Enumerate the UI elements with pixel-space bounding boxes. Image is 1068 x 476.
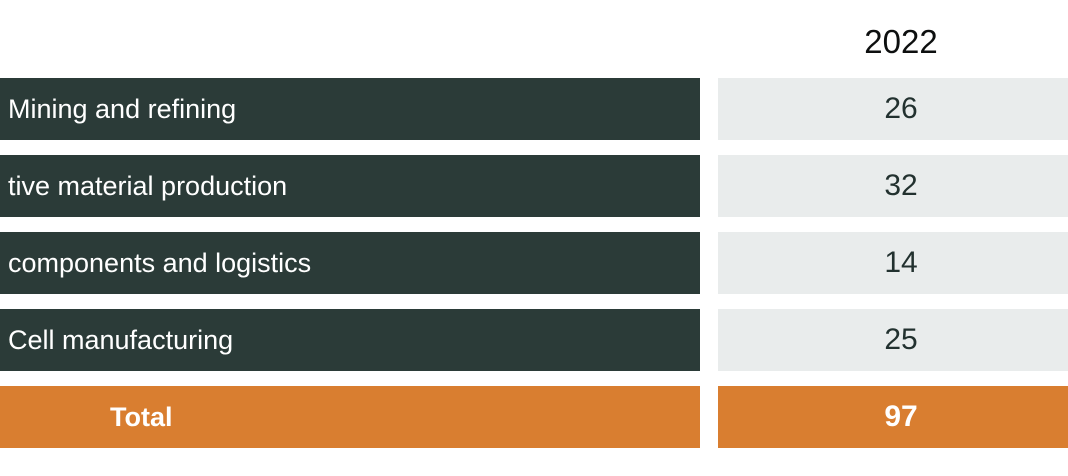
row-value-cell[interactable]: 26 xyxy=(718,78,1068,140)
total-value-cell[interactable]: 97 xyxy=(718,386,1068,448)
table-row-total[interactable]: Total 97 xyxy=(0,386,1068,448)
total-label-bar[interactable]: Total xyxy=(0,386,700,448)
table-row[interactable]: tive material production 32 xyxy=(0,155,1068,217)
column-header-2022: 2022 xyxy=(718,22,1068,62)
stacked-bar-table-chart: 2022 Mining and refining 26 tive materia… xyxy=(0,0,1068,476)
row-value-text: 26 xyxy=(718,78,1068,140)
row-label-bar[interactable]: components and logistics xyxy=(0,232,700,294)
row-value-text: 32 xyxy=(718,155,1068,217)
total-value-text: 97 xyxy=(718,386,1068,448)
row-label-text: components and logistics xyxy=(8,247,311,279)
table-row[interactable]: Mining and refining 26 xyxy=(0,78,1068,140)
row-value-text: 14 xyxy=(718,232,1068,294)
row-value-cell[interactable]: 25 xyxy=(718,309,1068,371)
row-value-cell[interactable]: 32 xyxy=(718,155,1068,217)
table-row[interactable]: components and logistics 14 xyxy=(0,232,1068,294)
table-row[interactable]: Cell manufacturing 25 xyxy=(0,309,1068,371)
row-label-text: tive material production xyxy=(8,170,287,202)
row-label-bar[interactable]: Mining and refining xyxy=(0,78,700,140)
row-value-text: 25 xyxy=(718,309,1068,371)
row-label-bar[interactable]: tive material production xyxy=(0,155,700,217)
row-value-cell[interactable]: 14 xyxy=(718,232,1068,294)
total-label-text: Total xyxy=(110,401,173,433)
row-label-bar[interactable]: Cell manufacturing xyxy=(0,309,700,371)
row-label-text: Mining and refining xyxy=(8,93,236,125)
row-label-text: Cell manufacturing xyxy=(8,324,233,356)
